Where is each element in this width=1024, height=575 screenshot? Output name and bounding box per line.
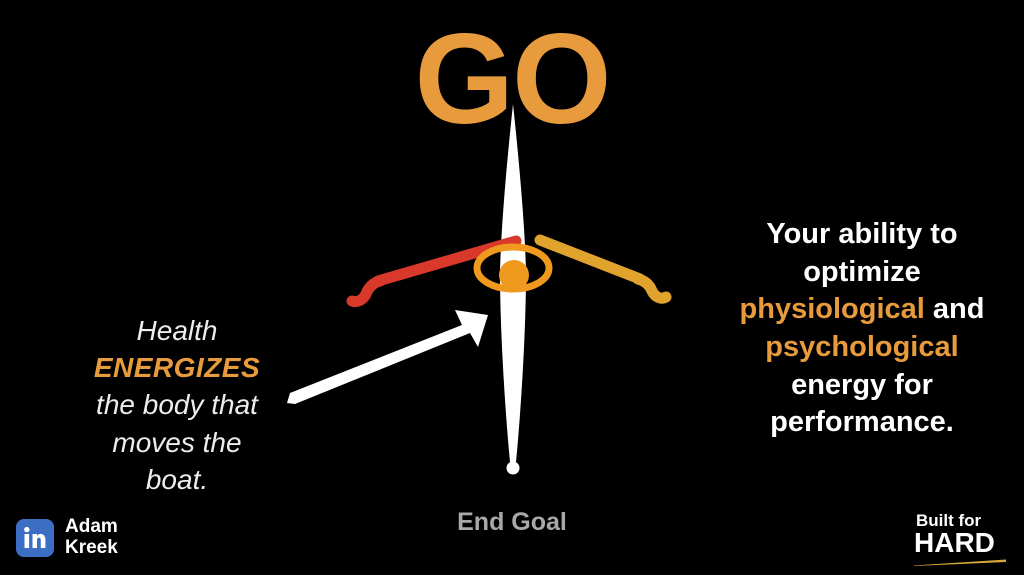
left-caption-highlight: ENERGIZES	[62, 349, 292, 386]
right-caption-highlight-physiological: physiological	[740, 293, 925, 325]
brand-name: HARD	[914, 529, 1006, 558]
left-caption-line-1: Health	[137, 315, 218, 346]
right-caption-line-1: Your ability to	[766, 218, 957, 250]
right-caption-conjunction: and	[925, 293, 985, 325]
brand-underline-icon	[914, 559, 1006, 566]
linkedin-icon[interactable]	[16, 519, 54, 557]
left-caption-line-5: boat.	[146, 464, 208, 495]
right-oar	[540, 240, 666, 298]
right-caption-line-5: performance.	[770, 406, 954, 438]
progress-arrow	[287, 310, 488, 404]
author-badge[interactable]: Adam Kreek	[16, 517, 118, 558]
slide-canvas: GO Health ENERGIZES the body	[0, 0, 1024, 575]
end-goal-label: End Goal	[0, 508, 1024, 537]
left-caption-line-4: moves the	[112, 427, 241, 458]
right-caption-line-2: optimize	[803, 256, 921, 288]
left-caption: Health ENERGIZES the body that moves the…	[62, 312, 292, 498]
author-name: Adam Kreek	[65, 517, 118, 558]
right-caption-line-4: energy for	[791, 369, 933, 401]
left-caption-line-3: the body that	[96, 389, 258, 420]
right-caption-highlight-psychological: psychological	[765, 331, 958, 363]
right-caption: Your ability to optimize physiological a…	[714, 216, 1010, 442]
brand-lockup: Built for HARD	[914, 512, 1006, 566]
